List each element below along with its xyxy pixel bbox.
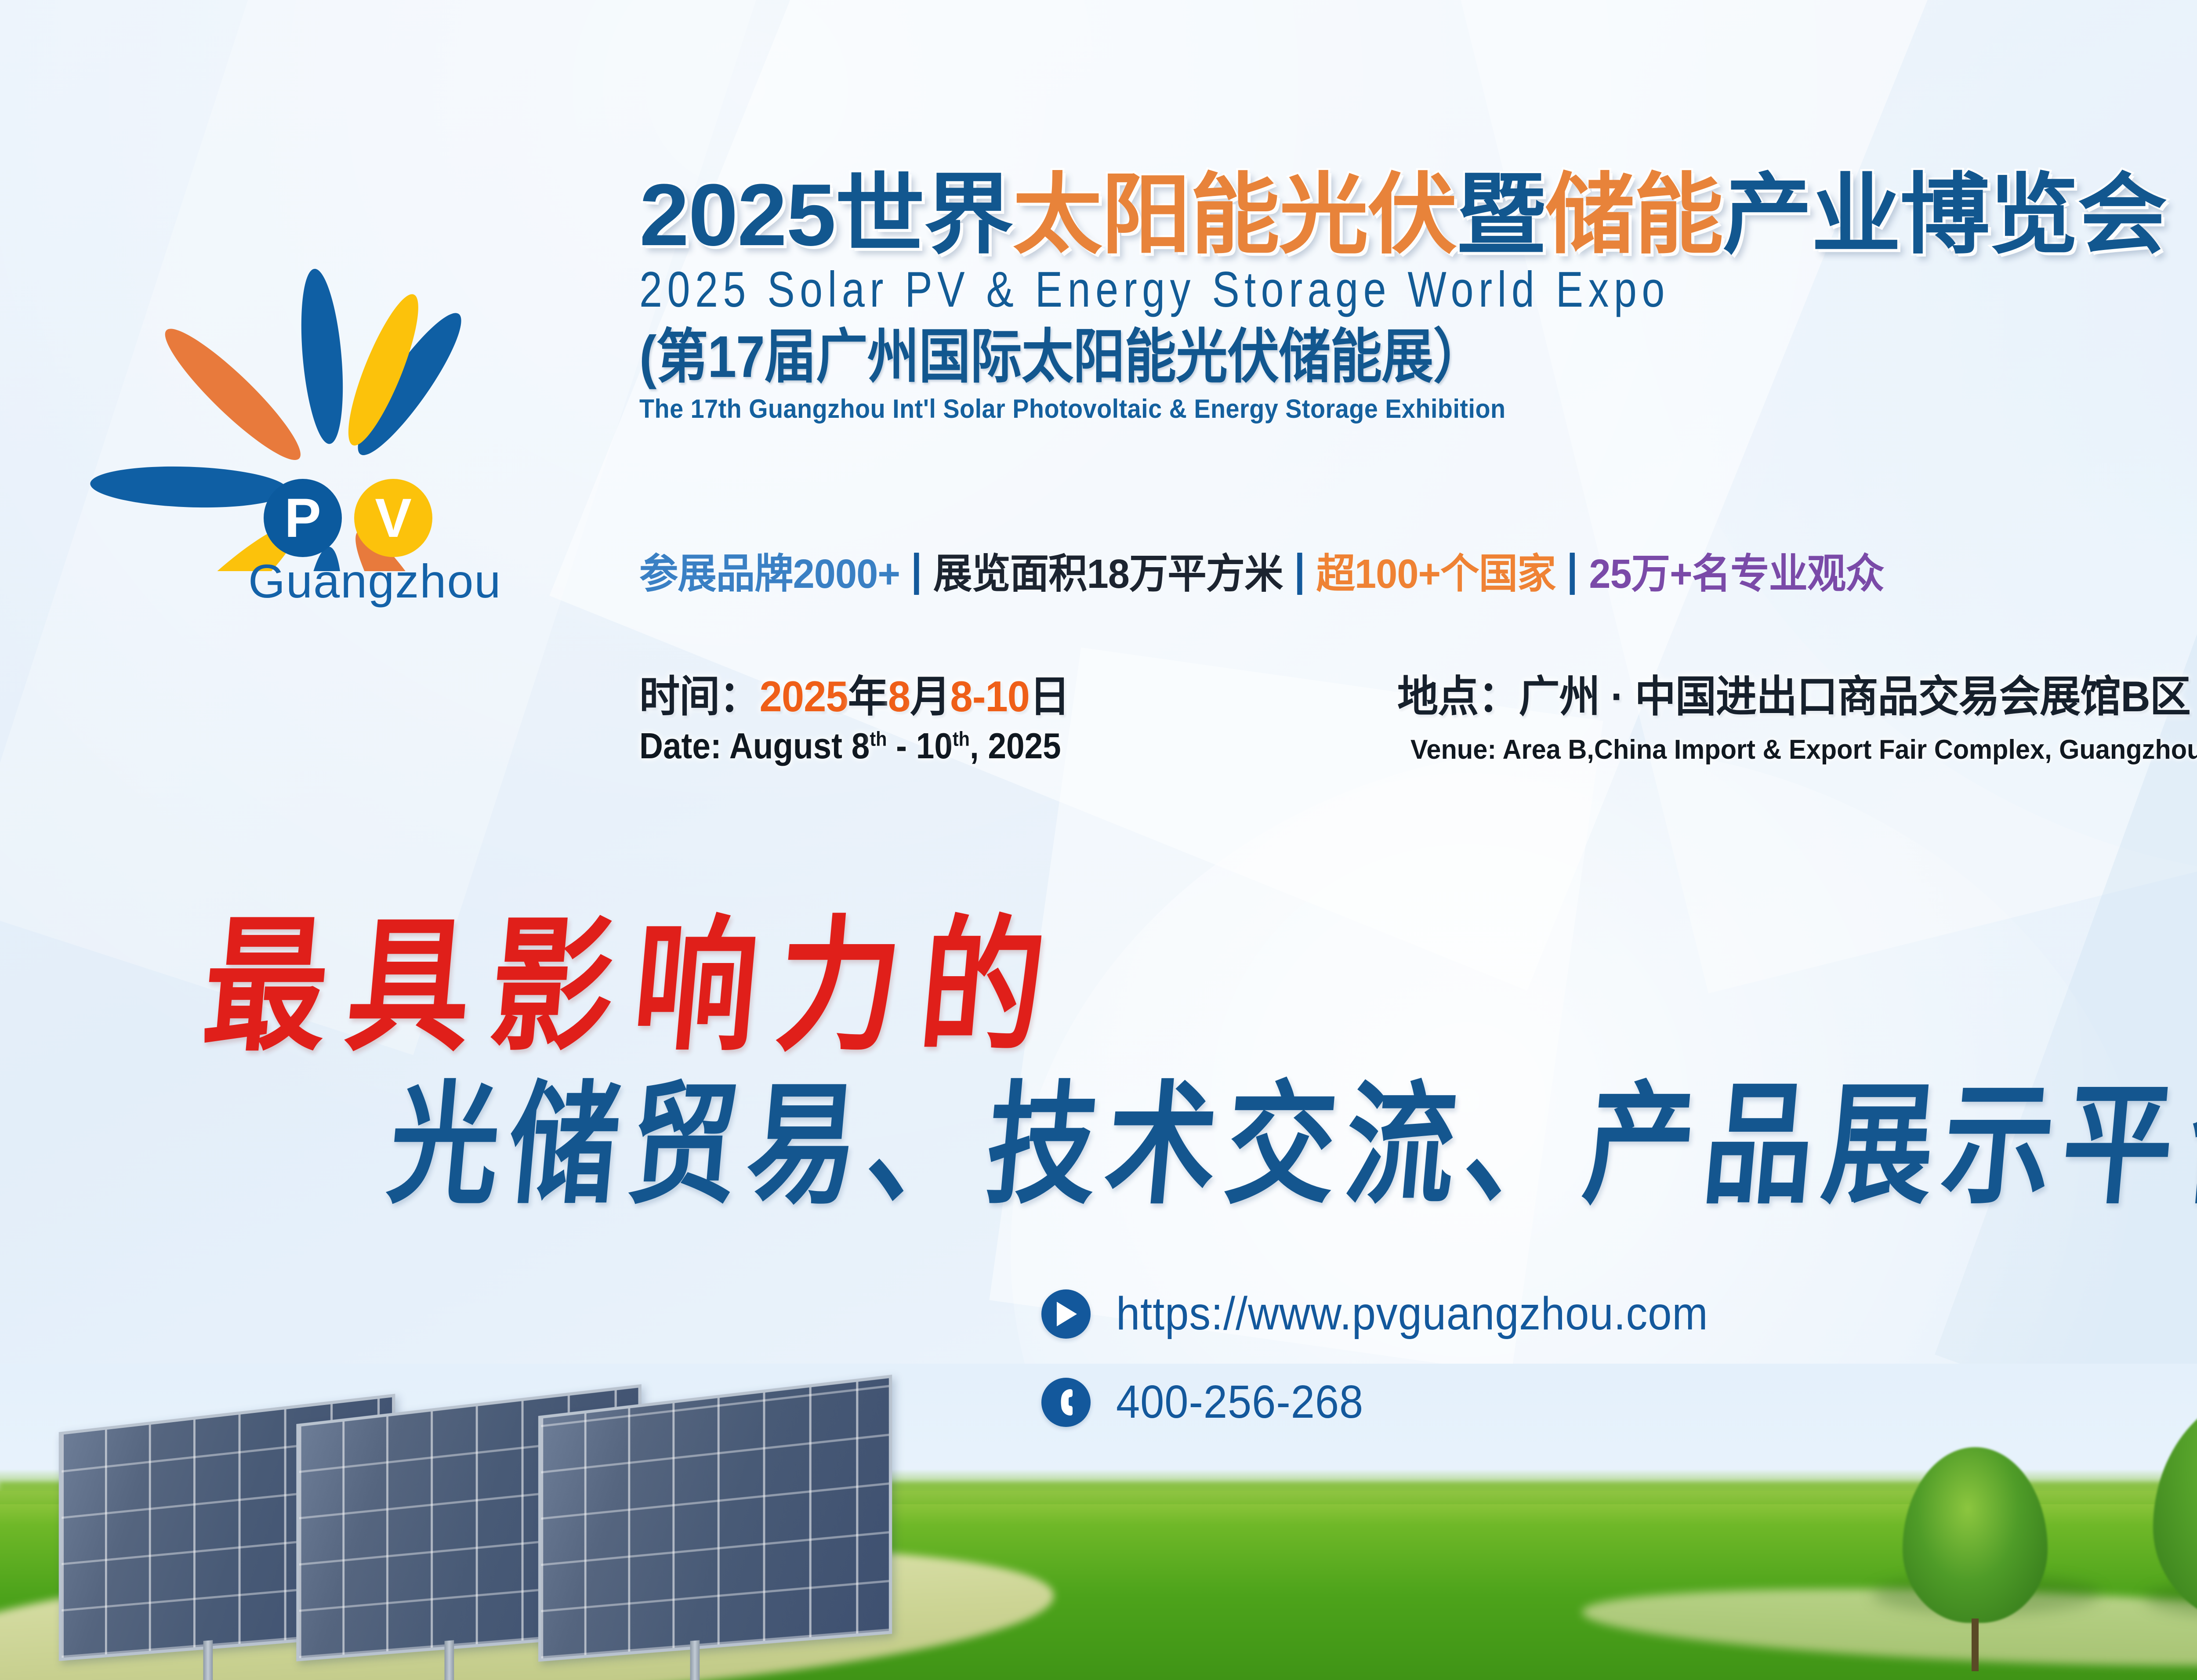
main-title: 2025世界太阳能光伏暨储能产业博览会 <box>639 171 2197 259</box>
date-en-prefix: Date: August 8 <box>639 725 870 766</box>
logo-letter-v: V <box>354 479 432 557</box>
date-day-unit: 日 <box>1030 672 1069 721</box>
stat-divider-1 <box>914 553 919 595</box>
date-en-suffix: , 2025 <box>970 725 1061 766</box>
stat-item-area: 展览面积18万平方米 <box>933 554 1283 594</box>
date-days-value: 8-10 <box>950 672 1030 721</box>
date-line-english: Date: August 8th - 10th, 2025 <box>639 724 1061 768</box>
date-month-unit: 月 <box>910 672 950 721</box>
solar-panel-leg <box>203 1640 213 1680</box>
title-block: 2025世界太阳能光伏暨储能产业博览会 2025 Solar PV & Ener… <box>639 171 2197 424</box>
venue-line-english: Venue: Area B,China Import & Export Fair… <box>1410 733 2197 767</box>
slogan-line-2: 光储贸易、技术交流、产品展示平台! <box>384 1079 2197 1210</box>
date-year-unit: 年 <box>848 672 888 721</box>
tree-trunk <box>1972 1618 1979 1671</box>
date-line-chinese: 时间：2025年8月8-10日 <box>639 672 1080 721</box>
main-title-english: 2025 Solar PV & Energy Storage World Exp… <box>639 264 2197 317</box>
tree-center <box>2153 1390 2197 1627</box>
website-url[interactable]: https://www.pvguangzhou.com <box>1116 1287 1708 1340</box>
stat-divider-3 <box>1570 553 1575 595</box>
pv-guangzhou-logo[interactable]: P V Guangzhou <box>53 176 598 628</box>
date-label-cn: 时间： <box>639 672 760 721</box>
tree-crown <box>2153 1390 2197 1627</box>
subtitle-chinese: (第17届广州国际太阳能光伏储能展） <box>639 326 2197 388</box>
stats-strip: 参展品牌2000+ 展览面积18万平方米 超100+个国家 25万+名专业观众 <box>639 553 1884 595</box>
main-title-part-4: 产业博览会 <box>1722 166 2166 264</box>
stat-item-visitors: 25万+名专业观众 <box>1589 554 1884 594</box>
date-en-sup-1: th <box>870 727 887 750</box>
date-year-value: 2025 <box>760 672 848 721</box>
main-title-part-1: 太阳能光伏 <box>1013 166 1457 264</box>
solar-panel-glass <box>538 1375 892 1662</box>
venue-block: 地点：广州 · 中国进出口商品交易会展馆B区 Venue: Area B,Chi… <box>1397 672 2197 767</box>
stat-item-countries: 超100+个国家 <box>1316 554 1556 594</box>
slogan-line-1: 最具影响力的 <box>198 914 1070 1059</box>
stat-divider-2 <box>1297 553 1302 595</box>
telephone-icon <box>1041 1378 1091 1427</box>
pv-letter-badges: P V <box>264 479 432 557</box>
solar-panel-3 <box>538 1376 886 1656</box>
tree-crown <box>1903 1447 2048 1623</box>
solar-panel-array <box>26 1377 1125 1680</box>
poster-root: P V Guangzhou 2025世界太阳能光伏暨储能产业博览会 2025 S… <box>0 0 2197 1680</box>
venue-line-chinese: 地点：广州 · 中国进出口商品交易会展馆B区 <box>1397 672 2194 721</box>
solar-panel-leg <box>690 1640 700 1680</box>
date-en-mid: - 10 <box>887 725 952 766</box>
date-month-value: 8 <box>888 672 910 721</box>
main-title-part-3: 储能 <box>1545 166 1722 264</box>
phone-number[interactable]: 400-256-268 <box>1116 1376 1363 1429</box>
solar-panel-leg <box>445 1640 454 1680</box>
tree-left <box>1903 1447 2048 1623</box>
main-title-part-0: 2025世界 <box>639 166 1013 264</box>
main-title-part-2: 暨 <box>1456 166 1545 264</box>
date-en-sup-2: th <box>953 727 970 750</box>
subtitle-english: The 17th Guangzhou Int'l Solar Photovolt… <box>639 394 2197 424</box>
logo-city-label: Guangzhou <box>248 554 501 608</box>
contact-block: https://www.pvguangzhou.com 400-256-268 <box>1041 1287 1760 1464</box>
play-arrow-icon <box>1041 1289 1091 1339</box>
date-block: 时间：2025年8月8-10日 Date: August 8th - 10th,… <box>639 672 1108 768</box>
contact-row-website[interactable]: https://www.pvguangzhou.com <box>1041 1287 1760 1340</box>
contact-row-phone[interactable]: 400-256-268 <box>1041 1376 1760 1429</box>
stat-item-brands: 参展品牌2000+ <box>639 554 900 594</box>
logo-letter-p: P <box>264 479 342 557</box>
